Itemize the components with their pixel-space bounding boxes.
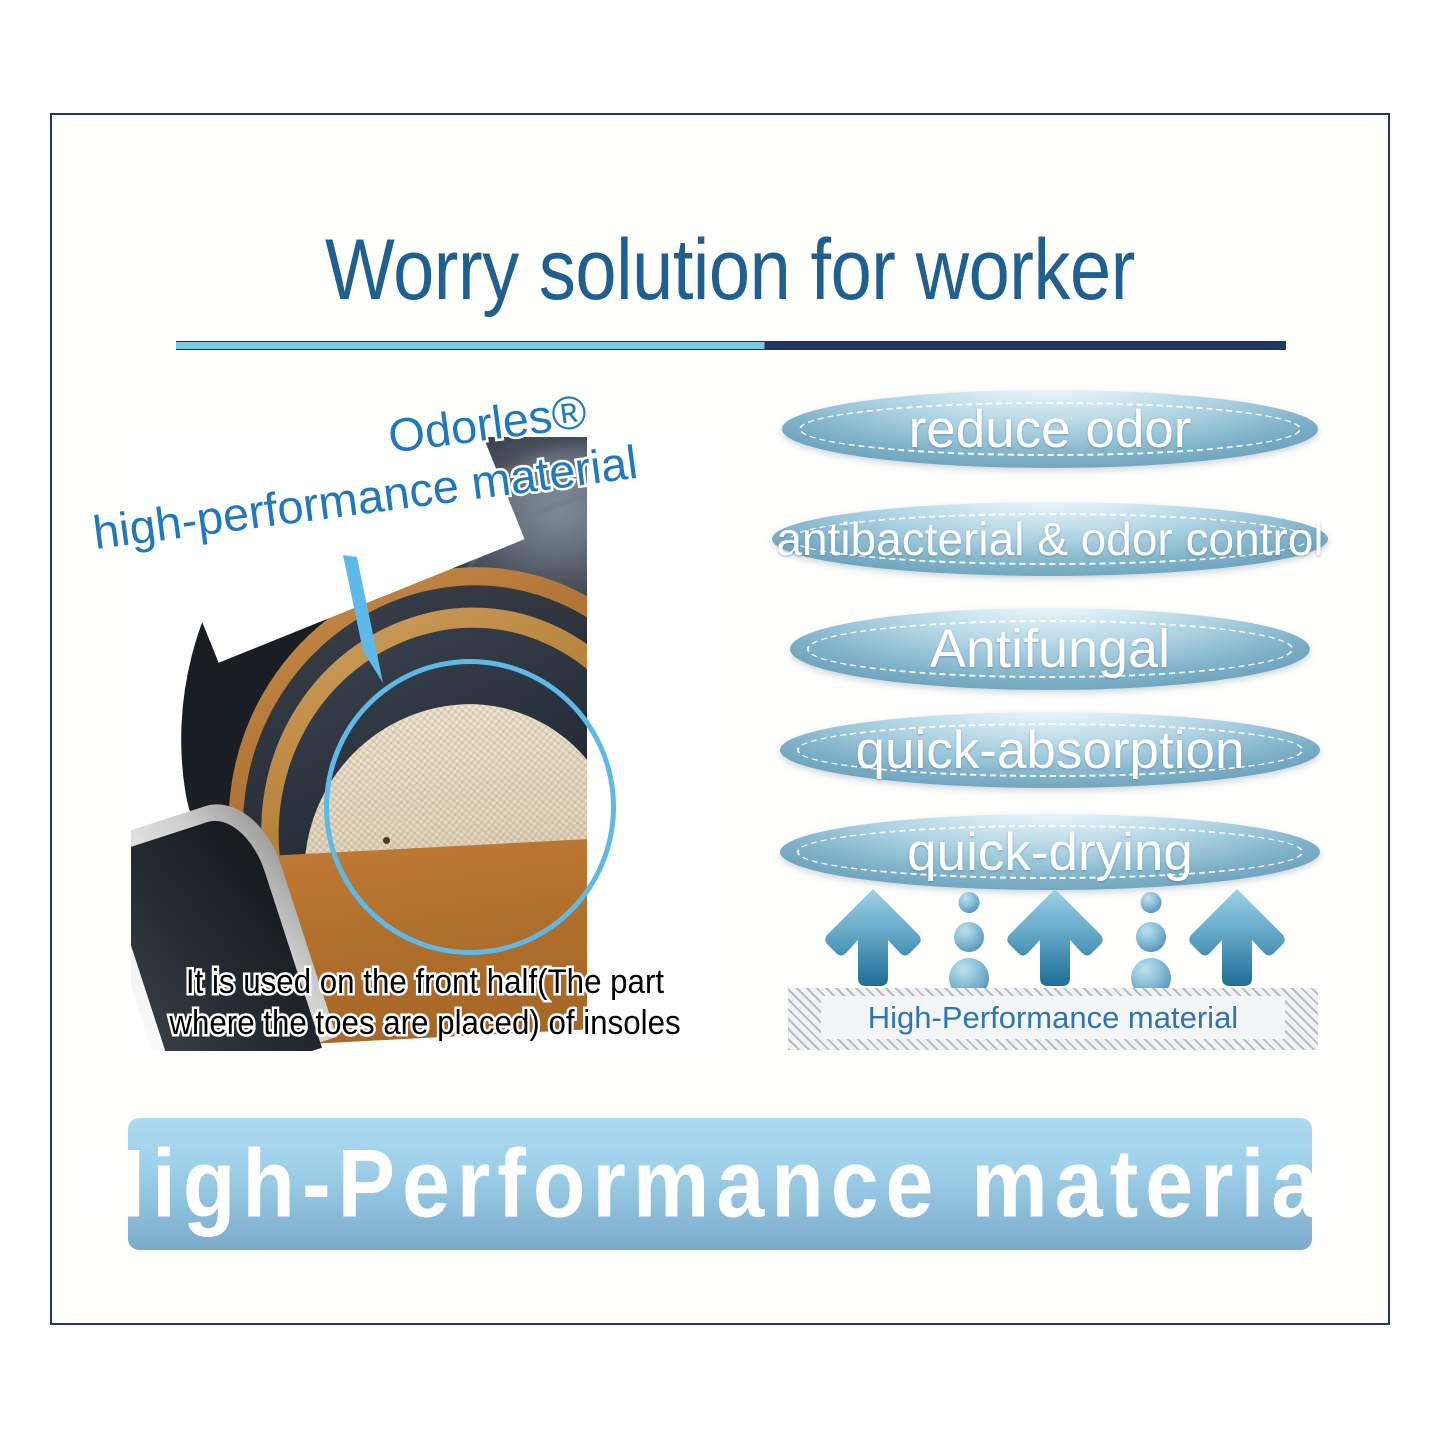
photo-caption: It is used on the front half(The part wh…: [163, 962, 687, 1045]
feature-badge-quick-absorption[interactable]: quick-absorption: [780, 712, 1320, 788]
highlight-circle: [324, 659, 616, 955]
up-arrow-icon: [1188, 886, 1286, 986]
feature-badge-label: quick-absorption: [856, 724, 1245, 777]
moisture-flow-diagram: [788, 886, 1316, 994]
feature-badge-quick-drying[interactable]: quick-drying: [780, 814, 1320, 890]
material-strip-inner-box: High-Performance material: [821, 996, 1285, 1039]
up-arrow-icon: [824, 886, 922, 986]
bottom-banner: High-Performance material: [128, 1118, 1312, 1250]
up-arrow-icon: [1006, 886, 1104, 986]
moisture-dots-column: [1122, 890, 1180, 990]
feature-badge-antibacterial-odor-control[interactable]: antibacterial & odor control: [772, 502, 1328, 576]
caption-line-2: where the toes are placed) of insoles: [163, 1003, 687, 1044]
infographic-canvas: Worry solution for worker Odorles® high-…: [0, 0, 1445, 1445]
feature-badge-antifungal[interactable]: Antifungal: [790, 608, 1310, 690]
page-title: Worry solution for worker: [253, 225, 1208, 315]
material-strip-label: High-Performance material: [868, 1000, 1238, 1036]
feature-badge-label: quick-drying: [907, 826, 1193, 879]
moisture-dot-icon: [954, 922, 984, 952]
caption-line-1: It is used on the front half(The part: [163, 962, 687, 1003]
bottom-banner-label: High-Performance material: [83, 1136, 1357, 1232]
feature-badge-label: antibacterial & odor control: [776, 516, 1323, 562]
moisture-dots-column: [940, 890, 998, 990]
feature-badge-label: reduce odor: [909, 403, 1192, 456]
feature-badge-list: reduce odor antibacterial & odor control…: [772, 390, 1328, 860]
moisture-dot-icon: [1136, 922, 1166, 952]
photo-backdrop-right: [587, 437, 717, 1051]
title-divider-rule: [176, 341, 1286, 350]
material-hatch-strip: High-Performance material: [788, 988, 1318, 1050]
moisture-dot-icon: [959, 892, 980, 913]
feature-badge-label: Antifungal: [930, 622, 1170, 676]
moisture-dot-icon: [1141, 892, 1162, 913]
callout-pointer-icon: [341, 555, 401, 685]
feature-badge-reduce-odor[interactable]: reduce odor: [782, 390, 1318, 468]
